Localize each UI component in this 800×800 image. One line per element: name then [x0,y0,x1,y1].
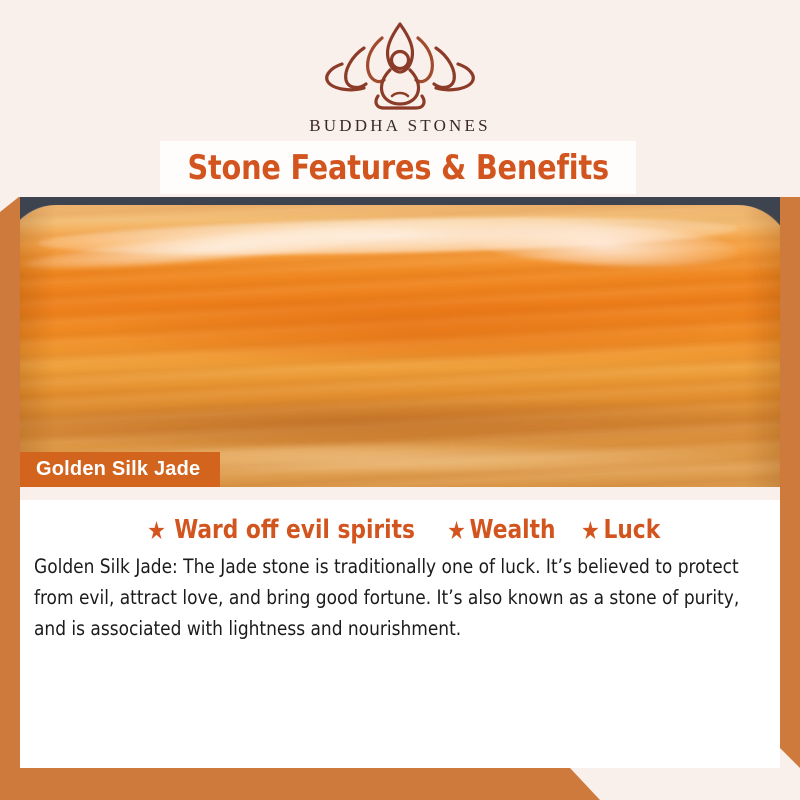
stone-name-label: Golden Silk Jade [36,458,200,481]
panel-top-strip [20,487,780,500]
benefit-label: Ward off evil spirits [174,515,415,545]
stone-band-white-top [38,212,739,261]
stone-object [20,205,780,487]
star-icon: ★ [447,518,466,543]
stone-edge-left [20,205,56,487]
frame-bottom-accent [0,768,800,800]
star-icon: ★ [147,518,166,543]
stone-band-deep-orange [118,301,708,359]
page-title: Stone Features & Benefits [187,148,608,188]
benefits-list: ★ Ward off evil spirits ★ Wealth ★ Luck [20,515,780,545]
content-panel: ★ Ward off evil spirits ★ Wealth ★ Luck … [20,487,780,768]
stone-sheen [20,205,780,275]
benefit-label: Wealth [470,515,556,545]
star-icon: ★ [581,518,600,543]
stone-edge-right [744,205,780,487]
stone-band-white-right [467,218,739,272]
stone-photo [20,197,780,487]
benefit-item: ★ Wealth [447,515,555,545]
title-banner: Stone Features & Benefits [160,141,636,194]
benefit-label: Luck [603,515,660,545]
benefit-item: ★ Luck [581,515,660,545]
brand-logo: BUDDHA STONES [0,18,800,136]
brand-name: BUDDHA STONES [0,116,800,136]
lotus-meditation-icon [0,18,800,114]
stone-band-white-left [26,218,419,276]
stone-band-brown [20,396,778,449]
infographic-page: BUDDHA STONES Stone Features & Benefits … [0,0,800,800]
benefit-item: ★ Ward off evil spirits [147,515,415,545]
stone-description: Golden Silk Jade: The Jade stone is trad… [34,551,754,644]
header: BUDDHA STONES Stone Features & Benefits [0,0,800,197]
stone-name-badge: Golden Silk Jade [20,452,220,487]
